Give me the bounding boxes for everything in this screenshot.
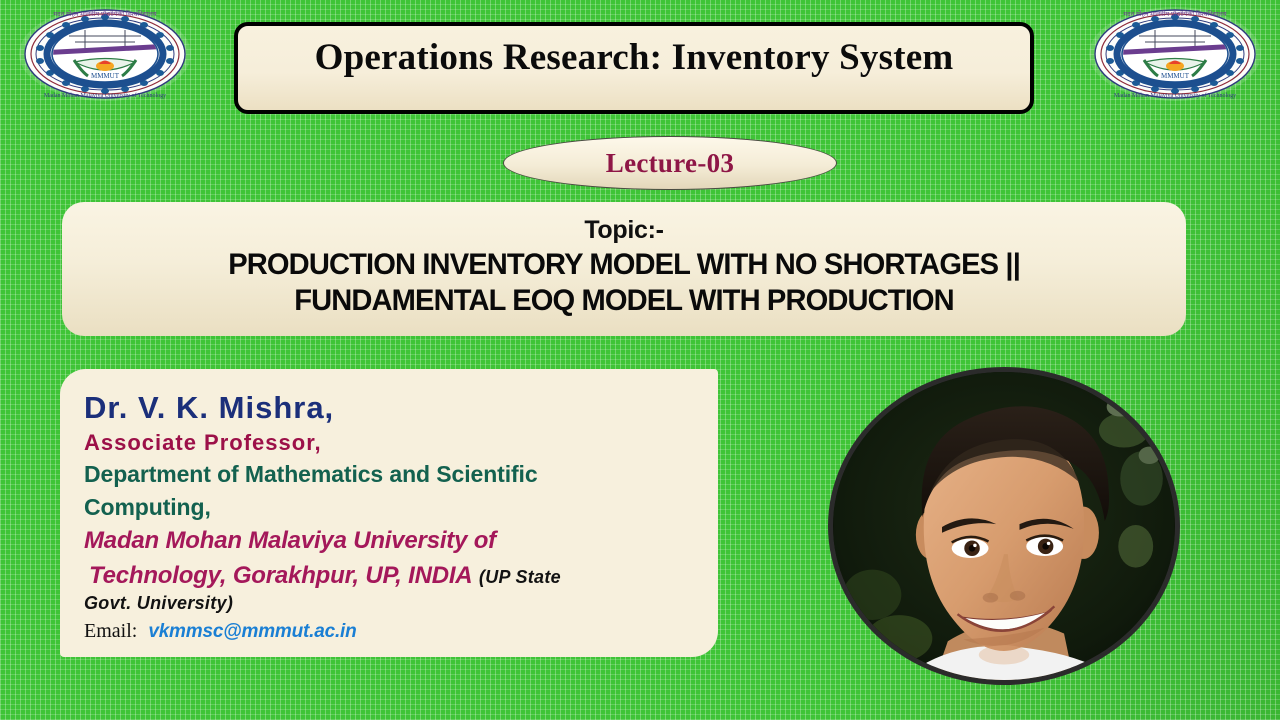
svg-text:मदन मोहन मालवीय प्रौद्योगिकी व: मदन मोहन मालवीय प्रौद्योगिकी विश्वविद्या… — [53, 10, 156, 18]
presenter-university-suffix: (UP State — [479, 567, 561, 587]
left-university-logo: MMMUT मदन मोहन मालवीय प्रौद्योगिकी विश्व… — [2, 2, 207, 105]
svg-text:MMMUT: MMMUT — [90, 72, 119, 80]
slide-title-box: Operations Research: Inventory System — [234, 22, 1034, 114]
right-university-logo: MMMUT मदन मोहन मालवीय प्रौद्योगिकी विश्व… — [1072, 2, 1277, 105]
presenter-university-line-2: Technology, Gorakhpur, UP, INDIA — [84, 559, 472, 593]
presenter-email-row: Email: vkmmsc@mmmut.ac.in — [84, 620, 700, 643]
university-emblem-icon: MMMUT मदन मोहन मालवीय प्रौद्योगिकी विश्व… — [1087, 6, 1263, 102]
email-label: Email: — [84, 620, 137, 643]
topic-line-2: FUNDAMENTAL EOQ MODEL WITH PRODUCTION — [294, 283, 954, 318]
svg-text:Madan Mohan Malaviya Universit: Madan Mohan Malaviya University of Techn… — [43, 92, 165, 99]
email-address[interactable]: vkmmsc@mmmut.ac.in — [148, 621, 356, 643]
presenter-info-card: Dr. V. K. Mishra, Associate Professor, D… — [60, 369, 718, 657]
svg-text:मदन मोहन मालवीय प्रौद्योगिकी व: मदन मोहन मालवीय प्रौद्योगिकी विश्वविद्या… — [1123, 10, 1226, 18]
presenter-department-line-1: Department of Mathematics and Scientific — [84, 458, 700, 491]
presenter-role: Associate Professor, — [84, 428, 700, 458]
svg-text:Madan Mohan Malaviya Universit: Madan Mohan Malaviya University of Techn… — [1113, 92, 1235, 99]
presenter-university-line-1: Madan Mohan Malaviya University of — [84, 524, 700, 558]
lecture-number-badge: Lecture-03 — [503, 136, 837, 190]
university-emblem-icon: MMMUT मदन मोहन मालवीय प्रौद्योगिकी विश्व… — [17, 6, 193, 102]
presenter-name: Dr. V. K. Mishra, — [84, 391, 700, 425]
svg-text:MMMUT: MMMUT — [1160, 72, 1189, 80]
topic-box: Topic:- PRODUCTION INVENTORY MODEL WITH … — [62, 202, 1186, 336]
topic-label: Topic:- — [584, 216, 663, 245]
presenter-university-suffix-line-2: Govt. University) — [84, 592, 700, 615]
presenter-portrait-photo — [828, 367, 1180, 685]
presenter-department-line-2: Computing, — [84, 491, 700, 524]
lecture-number-label: Lecture-03 — [606, 148, 734, 179]
topic-line-1: PRODUCTION INVENTORY MODEL WITH NO SHORT… — [228, 247, 1020, 282]
page-title: Operations Research: Inventory System — [315, 36, 954, 79]
